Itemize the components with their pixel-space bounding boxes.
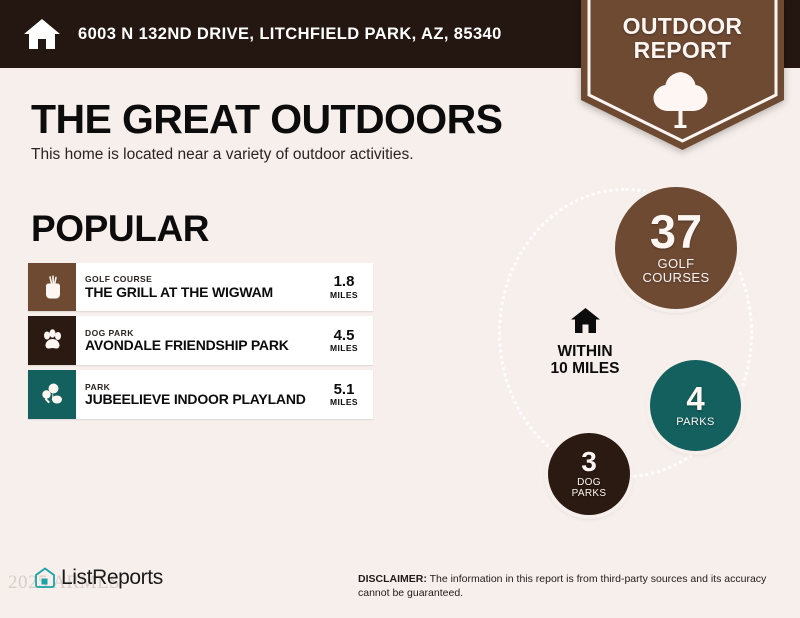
outdoor-report-badge: OUTDOOR REPORT bbox=[575, 0, 790, 154]
poi-distance-unit: MILES bbox=[330, 343, 358, 353]
within-radius-text: WITHIN 10 MILES bbox=[530, 343, 640, 378]
list-item[interactable]: DOG PARK AVONDALE FRIENDSHIP PARK 4.5 MI… bbox=[28, 316, 373, 365]
stat-label: DOG PARKS bbox=[572, 477, 607, 499]
stat-circle-golf-courses[interactable]: 37 GOLF COURSES bbox=[615, 187, 737, 309]
stat-count: 37 bbox=[650, 210, 702, 255]
property-address: 6003 N 132ND DRIVE, LITCHFIELD PARK, AZ,… bbox=[78, 25, 502, 44]
list-item[interactable]: PARK JUBEELIEVE INDOOR PLAYLAND 5.1 MILE… bbox=[28, 370, 373, 419]
stat-count: 4 bbox=[686, 383, 704, 414]
page-subtitle: This home is located near a variety of o… bbox=[31, 146, 414, 164]
poi-name: AVONDALE FRIENDSHIP PARK bbox=[85, 338, 319, 353]
poi-icon-tile bbox=[28, 370, 76, 419]
stat-cluster: WITHIN 10 MILES 37 GOLF COURSES 4 PARKS … bbox=[490, 180, 800, 550]
within-radius-block: WITHIN 10 MILES bbox=[530, 307, 640, 378]
poi-distance-unit: MILES bbox=[330, 397, 358, 407]
disclaimer: DISCLAIMER: The information in this repo… bbox=[358, 572, 778, 600]
listreports-logo[interactable]: ListReports bbox=[33, 566, 163, 590]
poi-distance: 4.5 MILES bbox=[319, 316, 373, 365]
stat-circle-parks[interactable]: 4 PARKS bbox=[650, 360, 741, 451]
golf-bag-icon bbox=[39, 274, 66, 301]
poi-distance-value: 1.8 bbox=[334, 274, 355, 290]
disclaimer-label: DISCLAIMER: bbox=[358, 573, 427, 585]
park-trees-icon bbox=[39, 381, 66, 408]
popular-heading: POPULAR bbox=[31, 208, 209, 250]
stat-label: GOLF COURSES bbox=[642, 257, 709, 286]
stat-count: 3 bbox=[581, 449, 597, 476]
stat-circle-dog-parks[interactable]: 3 DOG PARKS bbox=[548, 433, 630, 515]
page-title: THE GREAT OUTDOORS bbox=[31, 96, 502, 143]
list-item[interactable]: GOLF COURSE THE GRILL AT THE WIGWAM 1.8 … bbox=[28, 263, 373, 311]
listreports-house-icon bbox=[33, 566, 57, 590]
popular-list: GOLF COURSE THE GRILL AT THE WIGWAM 1.8 … bbox=[28, 263, 373, 419]
listreports-logo-text: ListReports bbox=[61, 566, 163, 590]
poi-text: GOLF COURSE THE GRILL AT THE WIGWAM bbox=[76, 263, 319, 311]
paw-icon bbox=[39, 327, 66, 354]
poi-text: DOG PARK AVONDALE FRIENDSHIP PARK bbox=[76, 316, 319, 365]
poi-name: THE GRILL AT THE WIGWAM bbox=[85, 285, 319, 300]
poi-distance: 1.8 MILES bbox=[319, 263, 373, 311]
poi-icon-tile bbox=[28, 316, 76, 365]
poi-icon-tile bbox=[28, 263, 76, 311]
stat-label: PARKS bbox=[676, 416, 714, 428]
poi-text: PARK JUBEELIEVE INDOOR PLAYLAND bbox=[76, 370, 319, 419]
home-icon bbox=[570, 307, 601, 335]
poi-distance: 5.1 MILES bbox=[319, 370, 373, 419]
poi-distance-unit: MILES bbox=[330, 290, 358, 300]
home-icon bbox=[22, 14, 62, 54]
poi-distance-value: 5.1 bbox=[334, 382, 355, 398]
poi-name: JUBEELIEVE INDOOR PLAYLAND bbox=[85, 392, 319, 407]
poi-distance-value: 4.5 bbox=[334, 328, 355, 344]
